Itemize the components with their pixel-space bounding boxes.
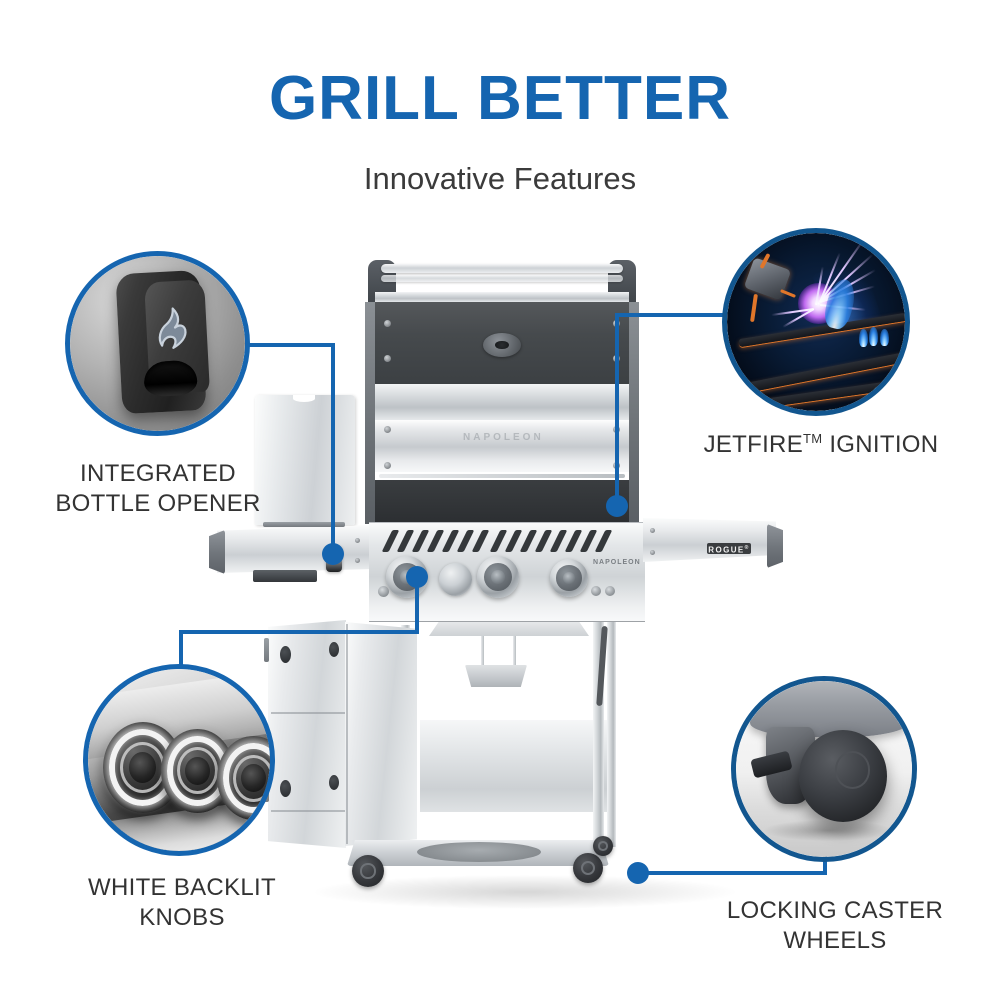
infographic-canvas: GRILL BETTER Innovative Features NAPOLEO… xyxy=(0,0,1000,1000)
callout-circle-white-backlit-knobs[interactable] xyxy=(83,664,275,856)
lid-screw xyxy=(384,426,391,433)
base-pan-tank-recess xyxy=(417,842,541,862)
caster-wheel-hub xyxy=(835,751,871,788)
left-shelf-end-cap xyxy=(209,530,225,574)
connector-bottle-opener-vertical xyxy=(331,343,335,551)
vent-slot xyxy=(580,530,598,552)
callout-circle-bottle-opener[interactable] xyxy=(65,251,250,436)
label-line-1: LOCKING CASTER xyxy=(690,896,980,926)
side-burner-lid-notch xyxy=(293,395,315,402)
connector-knobs-vertical xyxy=(179,630,183,668)
ignition-button-far-right[interactable] xyxy=(605,586,615,596)
lid-lower-panel xyxy=(375,420,629,472)
label-line-1: WHITE BACKLIT xyxy=(52,873,312,903)
brand-emboss: NAPOLEON xyxy=(463,432,544,443)
firebox xyxy=(375,480,629,522)
label-line-2: KNOBS xyxy=(52,903,312,933)
connector-caster-horizontal xyxy=(637,871,827,875)
caster-wheel-front-right[interactable] xyxy=(573,853,603,883)
caster-wheel-front-left[interactable] xyxy=(352,855,384,887)
label-line-1: JETFIRETM IGNITION xyxy=(676,430,966,460)
vent-slot xyxy=(382,530,400,552)
vent-slot xyxy=(520,530,538,552)
wheel-shadow xyxy=(764,820,891,841)
cart-door-inner[interactable] xyxy=(345,622,417,846)
bottle-opener-photo xyxy=(70,256,245,431)
shelf-screw xyxy=(650,528,655,533)
lid-handle[interactable] xyxy=(381,264,623,273)
caster-hub xyxy=(360,863,375,878)
door-latch-upper[interactable] xyxy=(329,642,339,657)
lid-right-rail xyxy=(629,302,639,524)
door-handle-upper[interactable] xyxy=(280,646,291,663)
lid-screw xyxy=(384,320,391,327)
lid-top-strip xyxy=(375,292,629,302)
connector-dot-jetfire xyxy=(606,495,628,517)
lid-handle-lower xyxy=(381,275,623,282)
vent-slot xyxy=(550,530,568,552)
vent-slot xyxy=(472,530,490,552)
firebox-underside xyxy=(429,622,589,636)
burner-flame xyxy=(859,329,868,347)
knob-cap xyxy=(129,752,156,783)
door-seam-lower xyxy=(271,810,345,812)
lid-screw xyxy=(384,355,391,362)
knobs-photo xyxy=(88,669,270,851)
caster-photo xyxy=(736,681,912,857)
connector-knobs-horizontal xyxy=(179,630,419,634)
gauge-pin xyxy=(495,341,509,350)
label-jetfire-ignition: JETFIRETM IGNITION xyxy=(676,430,966,460)
caster-hub xyxy=(581,861,595,875)
lid-screw xyxy=(384,462,391,469)
door-hinge-top xyxy=(264,638,269,662)
label-line-1: INTEGRATED xyxy=(28,459,288,489)
page-subtitle: Innovative Features xyxy=(0,160,1000,197)
knob-cap xyxy=(185,757,210,785)
vent-slot xyxy=(397,530,415,552)
rogue-badge-text: ROGUE xyxy=(708,546,744,555)
jetfire-word: JETFIRE xyxy=(704,431,803,458)
vent-slot xyxy=(412,530,430,552)
left-side-shelf xyxy=(217,525,369,573)
connector-dot-bottle-opener xyxy=(322,543,344,565)
caster-wheel-rear-right[interactable] xyxy=(593,836,613,856)
vent-slot xyxy=(505,530,523,552)
lid-stainless-band xyxy=(373,384,631,420)
burner-flame xyxy=(869,327,878,346)
connector-bottle-opener-horizontal xyxy=(246,343,335,347)
label-integrated-bottle-opener: INTEGRATED BOTTLE OPENER xyxy=(28,459,288,519)
rogue-badge: ROGUE® xyxy=(707,543,751,554)
right-shelf-end-cap xyxy=(767,524,783,568)
side-burner-base xyxy=(253,570,317,582)
connector-knobs-vertical2 xyxy=(415,585,419,632)
door-seam-vertical xyxy=(346,624,348,844)
vent-slot xyxy=(595,530,613,552)
vent-slot xyxy=(427,530,445,552)
label-line-2: WHEELS xyxy=(690,926,980,956)
label-white-backlit-knobs: WHITE BACKLIT KNOBS xyxy=(52,873,312,933)
callout-circle-jetfire-ignition[interactable] xyxy=(722,228,910,416)
door-latch-lower[interactable] xyxy=(329,775,339,790)
grease-tray[interactable] xyxy=(465,665,527,687)
warming-rack-rod xyxy=(379,474,625,478)
shelf-screw xyxy=(355,558,360,563)
vent-slot xyxy=(442,530,460,552)
jetfire-photo xyxy=(727,233,905,411)
cart-back-panel xyxy=(420,720,610,812)
ignition-button-left[interactable] xyxy=(378,586,389,597)
control-knob-3[interactable] xyxy=(477,556,519,598)
vent-slot xyxy=(457,530,475,552)
temperature-gauge-mount xyxy=(483,333,521,357)
label-line-2: BOTTLE OPENER xyxy=(28,489,288,519)
napoleon-flame-logo-icon xyxy=(151,305,194,353)
lid-left-rail xyxy=(365,302,375,524)
panel-brand-logo: NAPOLEON xyxy=(593,559,641,566)
callout-circle-locking-caster-wheels[interactable] xyxy=(731,676,917,862)
cart-rear-right-leg2 xyxy=(607,622,616,847)
knob-cap xyxy=(491,570,504,583)
control-knob-2[interactable] xyxy=(439,563,472,596)
ignition-button-right[interactable] xyxy=(591,586,601,596)
door-seam-upper xyxy=(271,712,345,714)
door-handle-lower[interactable] xyxy=(280,780,291,797)
shelf-screw xyxy=(650,550,655,555)
rogue-badge-tm: ® xyxy=(745,545,750,551)
vent-slot xyxy=(565,530,583,552)
right-side-shelf xyxy=(643,518,776,562)
caster-hub xyxy=(598,841,608,851)
product-image-grill: NAPOLEON xyxy=(195,250,815,900)
vent-slot xyxy=(535,530,553,552)
label-locking-caster-wheels: LOCKING CASTER WHEELS xyxy=(690,896,980,956)
page-title: GRILL BETTER xyxy=(0,68,1000,130)
control-knob-4[interactable] xyxy=(550,559,588,597)
trademark-symbol: TM xyxy=(803,431,822,446)
connector-dot-knobs xyxy=(406,566,428,588)
vent-slot xyxy=(490,530,508,552)
connector-dot-caster xyxy=(627,862,649,884)
connector-jetfire-vertical xyxy=(615,313,619,503)
shelf-screw xyxy=(355,538,360,543)
ignition-word: IGNITION xyxy=(822,431,938,458)
burner-flame xyxy=(880,329,889,346)
connector-jetfire-horizontal xyxy=(615,313,727,317)
